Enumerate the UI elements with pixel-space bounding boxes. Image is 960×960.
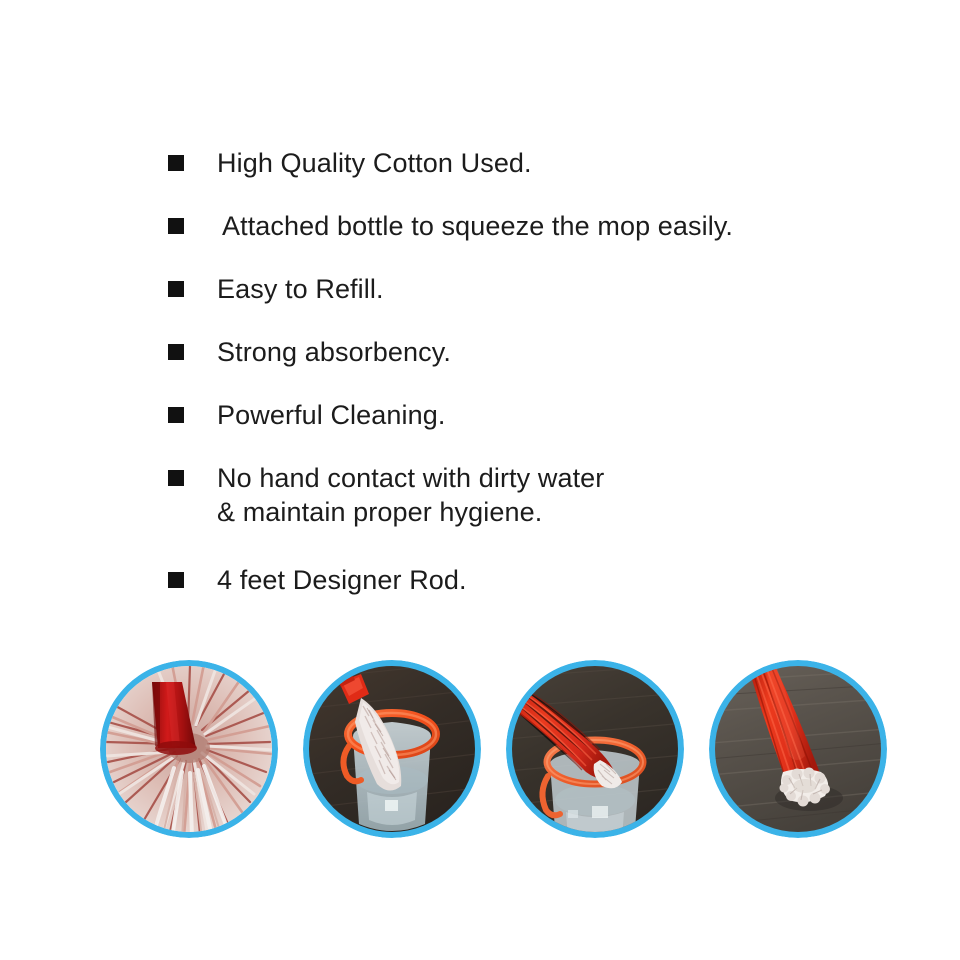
photo-mop-dipped-in-bucket (303, 660, 481, 838)
black-square-icon (168, 572, 184, 588)
black-square-icon (168, 344, 184, 360)
list-item: No hand contact with dirty water & maint… (168, 461, 868, 529)
list-item: 4 feet Designer Rod. (168, 563, 868, 597)
list-item: Strong absorbency. (168, 335, 868, 369)
feature-text: Strong absorbency. (217, 335, 451, 369)
feature-text: Easy to Refill. (217, 272, 384, 306)
black-square-icon (168, 470, 184, 486)
product-feature-page: High Quality Cotton Used. Attached bottl… (0, 0, 960, 960)
product-photo-strip (100, 660, 886, 840)
black-square-icon (168, 218, 184, 234)
black-square-icon (168, 407, 184, 423)
list-item: High Quality Cotton Used. (168, 146, 868, 180)
feature-text: 4 feet Designer Rod. (217, 563, 467, 597)
photo-mop-on-wood-floor (709, 660, 887, 838)
feature-text: Powerful Cleaning. (217, 398, 445, 432)
photo-mop-on-bucket-rim (506, 660, 684, 838)
black-square-icon (168, 155, 184, 171)
feature-list: High Quality Cotton Used. Attached bottl… (168, 146, 868, 626)
photo-mop-head-closeup (100, 660, 278, 838)
list-item: Attached bottle to squeeze the mop easil… (168, 209, 868, 243)
list-item: Easy to Refill. (168, 272, 868, 306)
feature-text: No hand contact with dirty water & maint… (217, 461, 604, 529)
feature-text: Attached bottle to squeeze the mop easil… (217, 209, 733, 243)
list-item: Powerful Cleaning. (168, 398, 868, 432)
black-square-icon (168, 281, 184, 297)
feature-text: High Quality Cotton Used. (217, 146, 532, 180)
